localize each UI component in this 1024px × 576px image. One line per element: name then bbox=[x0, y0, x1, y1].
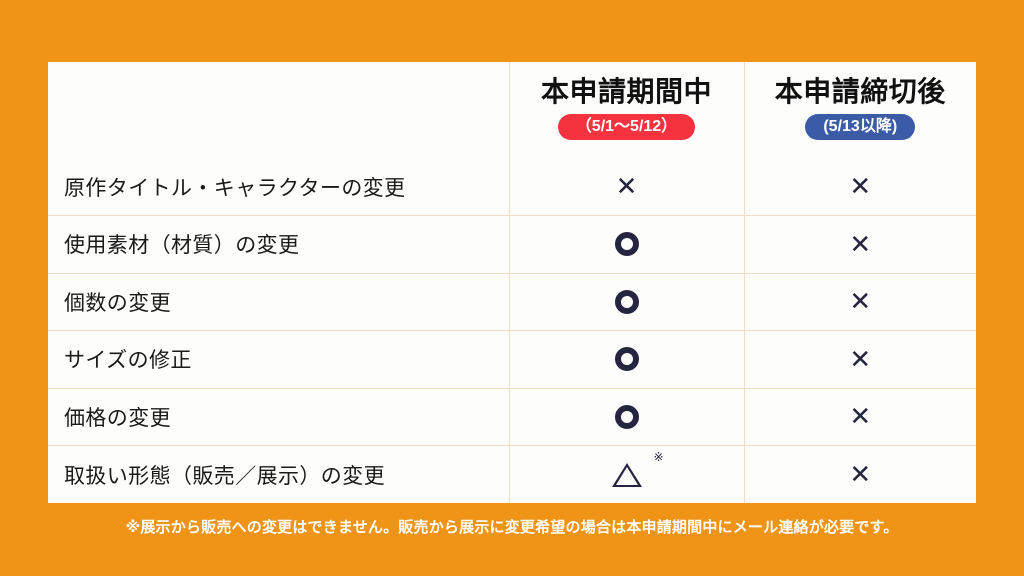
table-row: 原作タイトル・キャラクターの変更 ✕ ✕ bbox=[48, 158, 976, 216]
circle-glyph bbox=[615, 232, 639, 256]
cross-glyph: ✕ bbox=[849, 401, 871, 431]
table-row: 個数の変更 ✕ bbox=[48, 273, 976, 331]
mark-cross-icon: ✕ bbox=[616, 173, 638, 199]
mark-cross-icon: ✕ bbox=[849, 173, 871, 199]
circle-glyph bbox=[615, 347, 639, 371]
row-label: 個数の変更 bbox=[48, 273, 509, 331]
mark-circle-icon bbox=[615, 290, 639, 314]
table-row: 価格の変更 ✕ bbox=[48, 388, 976, 446]
mark-cross-icon: ✕ bbox=[849, 288, 871, 314]
triangle-glyph bbox=[612, 463, 642, 487]
row-mark-application-period bbox=[509, 216, 744, 274]
row-mark-application-period bbox=[509, 388, 744, 446]
row-mark-after-deadline: ✕ bbox=[744, 388, 976, 446]
row-label: サイズの修正 bbox=[48, 331, 509, 389]
table-row: 取扱い形態（販売／展示）の変更 ※ ✕ bbox=[48, 446, 976, 504]
row-mark-after-deadline: ✕ bbox=[744, 158, 976, 216]
header-cell-application-period: 本申請期間中 （5/1〜5/12） bbox=[509, 62, 744, 158]
comparison-table: 本申請期間中 （5/1〜5/12） 本申請締切後 (5/13以降) 原作タイトル… bbox=[48, 62, 976, 503]
mark-circle-icon bbox=[615, 232, 639, 256]
table-header-row: 本申請期間中 （5/1〜5/12） 本申請締切後 (5/13以降) bbox=[48, 62, 976, 158]
row-label: 価格の変更 bbox=[48, 388, 509, 446]
header-badge-application-period: （5/1〜5/12） bbox=[558, 114, 695, 141]
cross-glyph: ✕ bbox=[849, 229, 871, 259]
mark-triangle-icon: ※ bbox=[612, 463, 642, 487]
mark-circle-icon bbox=[615, 347, 639, 371]
footnote-marker-icon: ※ bbox=[653, 451, 663, 463]
header-badge-after-deadline: (5/13以降) bbox=[805, 114, 915, 141]
mark-cross-icon: ✕ bbox=[849, 461, 871, 487]
row-mark-application-period bbox=[509, 331, 744, 389]
row-mark-after-deadline: ✕ bbox=[744, 331, 976, 389]
mark-cross-icon: ✕ bbox=[849, 403, 871, 429]
comparison-table-container: 本申請期間中 （5/1〜5/12） 本申請締切後 (5/13以降) 原作タイトル… bbox=[48, 62, 976, 503]
header-cell-after-deadline: 本申請締切後 (5/13以降) bbox=[744, 62, 976, 158]
cross-glyph: ✕ bbox=[849, 344, 871, 374]
table-row: 使用素材（材質）の変更 ✕ bbox=[48, 216, 976, 274]
row-mark-application-period: ※ bbox=[509, 446, 744, 504]
mark-cross-icon: ✕ bbox=[849, 346, 871, 372]
cross-glyph: ✕ bbox=[616, 171, 638, 201]
mark-cross-icon: ✕ bbox=[849, 231, 871, 257]
cross-glyph: ✕ bbox=[849, 171, 871, 201]
row-label: 取扱い形態（販売／展示）の変更 bbox=[48, 446, 509, 504]
row-mark-after-deadline: ✕ bbox=[744, 446, 976, 504]
circle-glyph bbox=[615, 405, 639, 429]
footer-note: ※展示から販売への変更はできません。販売から展示に変更希望の場合は本申請期間中に… bbox=[0, 516, 1024, 537]
slide-canvas: 本申請期間中 （5/1〜5/12） 本申請締切後 (5/13以降) 原作タイトル… bbox=[0, 0, 1024, 576]
cross-glyph: ✕ bbox=[849, 459, 871, 489]
row-mark-after-deadline: ✕ bbox=[744, 216, 976, 274]
table-row: サイズの修正 ✕ bbox=[48, 331, 976, 389]
row-label: 使用素材（材質）の変更 bbox=[48, 216, 509, 274]
circle-glyph bbox=[615, 290, 639, 314]
mark-circle-icon bbox=[615, 405, 639, 429]
header-title-after-deadline: 本申請締切後 bbox=[751, 76, 971, 108]
row-label: 原作タイトル・キャラクターの変更 bbox=[48, 158, 509, 216]
row-mark-after-deadline: ✕ bbox=[744, 273, 976, 331]
header-title-application-period: 本申請期間中 bbox=[516, 76, 738, 108]
cross-glyph: ✕ bbox=[849, 286, 871, 316]
row-mark-application-period bbox=[509, 273, 744, 331]
header-cell-blank bbox=[48, 62, 509, 158]
row-mark-application-period: ✕ bbox=[509, 158, 744, 216]
